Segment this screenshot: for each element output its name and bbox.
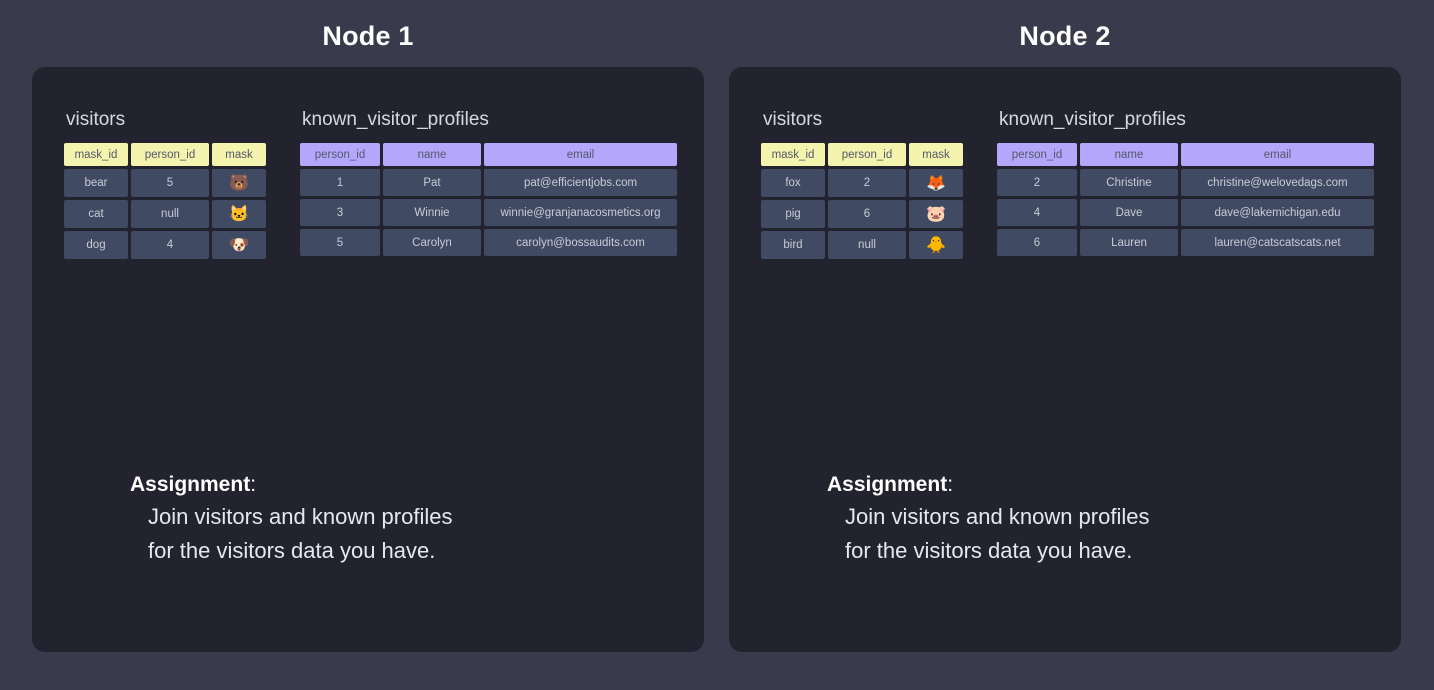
dog-icon: 🐶 bbox=[212, 231, 266, 259]
column-header-person-id: person_id bbox=[997, 143, 1077, 166]
diagram-canvas: Node 1 visitors mask_id person_id mask b… bbox=[0, 0, 1434, 690]
cell-person-id: 6 bbox=[997, 229, 1077, 256]
cell-person-id: null bbox=[131, 200, 209, 228]
assignment-heading-2: Assignment: bbox=[827, 470, 1347, 500]
table-header-row: person_id name email bbox=[300, 143, 677, 166]
assignment-text-2: Join visitors and known profiles for the… bbox=[827, 500, 1347, 568]
cell-mask-id: fox bbox=[761, 169, 825, 197]
cat-icon: 🐱 bbox=[212, 200, 266, 228]
profiles-table-caption-1: known_visitor_profiles bbox=[302, 108, 680, 132]
column-header-name: name bbox=[383, 143, 481, 166]
assignment-block-1: Assignment: Join visitors and known prof… bbox=[130, 470, 650, 568]
cell-person-id: 2 bbox=[828, 169, 906, 197]
node-body-2: visitors mask_id person_id mask fox 2 🦊 bbox=[729, 67, 1401, 652]
cell-mask-id: pig bbox=[761, 200, 825, 228]
column-header-name: name bbox=[1080, 143, 1178, 166]
chick-icon: 🐥 bbox=[909, 231, 963, 259]
column-header-person-id: person_id bbox=[828, 143, 906, 166]
table-header-row: mask_id person_id mask bbox=[64, 143, 266, 166]
profiles-table-caption-2: known_visitor_profiles bbox=[999, 108, 1377, 132]
cell-email: winnie@granjanacosmetics.org bbox=[484, 199, 677, 226]
assignment-line-2: for the visitors data you have. bbox=[148, 534, 650, 568]
table-row: 4 Dave dave@lakemichigan.edu bbox=[997, 199, 1374, 226]
cell-mask-id: dog bbox=[64, 231, 128, 259]
column-header-person-id: person_id bbox=[131, 143, 209, 166]
column-header-email: email bbox=[484, 143, 677, 166]
table-row: 3 Winnie winnie@granjanacosmetics.org bbox=[300, 199, 677, 226]
tables-group-1: visitors mask_id person_id mask bear 5 🐻 bbox=[64, 108, 680, 262]
table-header-row: person_id name email bbox=[997, 143, 1374, 166]
visitors-table-caption-1: visitors bbox=[66, 108, 269, 132]
cell-name: Winnie bbox=[383, 199, 481, 226]
visitors-table-1: mask_id person_id mask bear 5 🐻 cat null bbox=[61, 140, 269, 262]
table-row: dog 4 🐶 bbox=[64, 231, 266, 259]
cell-name: Lauren bbox=[1080, 229, 1178, 256]
cell-mask-id: cat bbox=[64, 200, 128, 228]
assignment-heading-1: Assignment: bbox=[130, 470, 650, 500]
table-row: 5 Carolyn carolyn@bossaudits.com bbox=[300, 229, 677, 256]
node-title-1: Node 1 bbox=[32, 18, 704, 54]
column-header-mask: mask bbox=[212, 143, 266, 166]
table-row: bear 5 🐻 bbox=[64, 169, 266, 197]
cell-person-id: 4 bbox=[131, 231, 209, 259]
column-header-mask-id: mask_id bbox=[761, 143, 825, 166]
table-row: 6 Lauren lauren@catscatscats.net bbox=[997, 229, 1374, 256]
table-header-row: mask_id person_id mask bbox=[761, 143, 963, 166]
profiles-table-1: person_id name email 1 Pat pat@efficient… bbox=[297, 140, 680, 259]
cell-email: dave@lakemichigan.edu bbox=[1181, 199, 1374, 226]
assignment-line-1: Join visitors and known profiles bbox=[845, 500, 1347, 534]
fox-icon: 🦊 bbox=[909, 169, 963, 197]
node-panel-2: Node 2 visitors mask_id person_id mask f… bbox=[729, 0, 1401, 690]
tables-group-2: visitors mask_id person_id mask fox 2 🦊 bbox=[761, 108, 1377, 262]
cell-name: Christine bbox=[1080, 169, 1178, 196]
cell-email: lauren@catscatscats.net bbox=[1181, 229, 1374, 256]
cell-person-id: 3 bbox=[300, 199, 380, 226]
table-row: cat null 🐱 bbox=[64, 200, 266, 228]
table-row: 2 Christine christine@welovedags.com bbox=[997, 169, 1374, 196]
node-title-2: Node 2 bbox=[729, 18, 1401, 54]
table-row: pig 6 🐷 bbox=[761, 200, 963, 228]
cell-person-id: 5 bbox=[131, 169, 209, 197]
cell-person-id: null bbox=[828, 231, 906, 259]
table-row: 1 Pat pat@efficientjobs.com bbox=[300, 169, 677, 196]
assignment-label: Assignment bbox=[827, 473, 947, 496]
cell-person-id: 1 bbox=[300, 169, 380, 196]
table-row: bird null 🐥 bbox=[761, 231, 963, 259]
assignment-text-1: Join visitors and known profiles for the… bbox=[130, 500, 650, 568]
profiles-table-block-1: known_visitor_profiles person_id name em… bbox=[300, 108, 680, 259]
visitors-table-block-2: visitors mask_id person_id mask fox 2 🦊 bbox=[761, 108, 966, 262]
cell-person-id: 6 bbox=[828, 200, 906, 228]
assignment-line-1: Join visitors and known profiles bbox=[148, 500, 650, 534]
cell-name: Dave bbox=[1080, 199, 1178, 226]
cell-email: christine@welovedags.com bbox=[1181, 169, 1374, 196]
assignment-colon: : bbox=[250, 473, 256, 496]
assignment-colon: : bbox=[947, 473, 953, 496]
cell-person-id: 4 bbox=[997, 199, 1077, 226]
column-header-person-id: person_id bbox=[300, 143, 380, 166]
bear-icon: 🐻 bbox=[212, 169, 266, 197]
profiles-table-block-2: known_visitor_profiles person_id name em… bbox=[997, 108, 1377, 259]
cell-name: Carolyn bbox=[383, 229, 481, 256]
column-header-mask-id: mask_id bbox=[64, 143, 128, 166]
assignment-label: Assignment bbox=[130, 473, 250, 496]
cell-mask-id: bear bbox=[64, 169, 128, 197]
cell-name: Pat bbox=[383, 169, 481, 196]
cell-person-id: 2 bbox=[997, 169, 1077, 196]
node-body-1: visitors mask_id person_id mask bear 5 🐻 bbox=[32, 67, 704, 652]
cell-person-id: 5 bbox=[300, 229, 380, 256]
profiles-table-2: person_id name email 2 Christine christi… bbox=[994, 140, 1377, 259]
column-header-mask: mask bbox=[909, 143, 963, 166]
visitors-table-2: mask_id person_id mask fox 2 🦊 pig 6 bbox=[758, 140, 966, 262]
visitors-table-block-1: visitors mask_id person_id mask bear 5 🐻 bbox=[64, 108, 269, 262]
cell-email: carolyn@bossaudits.com bbox=[484, 229, 677, 256]
cell-mask-id: bird bbox=[761, 231, 825, 259]
node-panel-1: Node 1 visitors mask_id person_id mask b… bbox=[32, 0, 704, 690]
assignment-block-2: Assignment: Join visitors and known prof… bbox=[827, 470, 1347, 568]
column-header-email: email bbox=[1181, 143, 1374, 166]
cell-email: pat@efficientjobs.com bbox=[484, 169, 677, 196]
pig-icon: 🐷 bbox=[909, 200, 963, 228]
assignment-line-2: for the visitors data you have. bbox=[845, 534, 1347, 568]
visitors-table-caption-2: visitors bbox=[763, 108, 966, 132]
table-row: fox 2 🦊 bbox=[761, 169, 963, 197]
